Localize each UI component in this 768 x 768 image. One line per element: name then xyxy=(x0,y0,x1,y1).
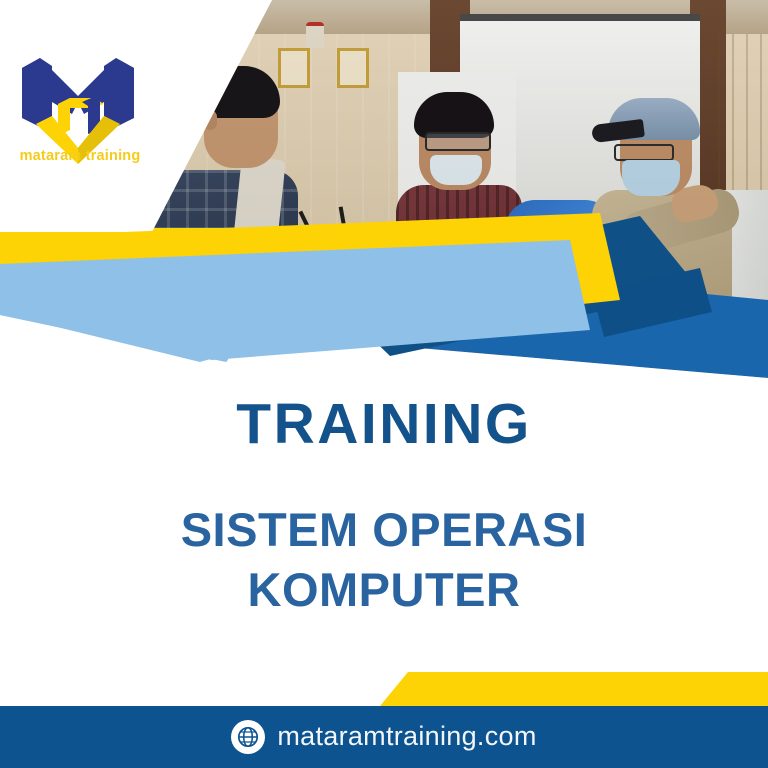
poster-canvas: mataram training TRAINING SISTEM OPERASI… xyxy=(0,0,768,768)
footer-yellow-accent xyxy=(380,672,768,706)
footer-graphics xyxy=(0,0,768,768)
website-url[interactable]: mataramtraining.com xyxy=(277,721,536,752)
footer-content[interactable]: mataramtraining.com xyxy=(0,705,768,768)
globe-icon xyxy=(231,720,265,754)
